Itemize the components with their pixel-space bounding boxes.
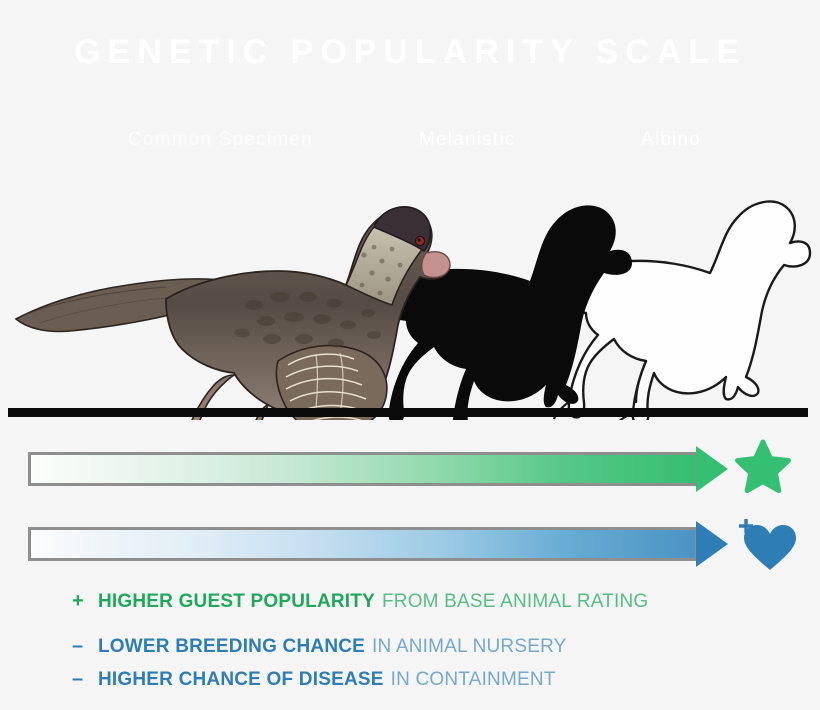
specimen-common <box>16 207 450 420</box>
legend-strong-disease: HIGHER CHANCE OF DISEASE <box>98 669 384 691</box>
heart-glyph <box>744 525 796 570</box>
ground-line <box>8 408 808 417</box>
legend-strong-popularity: HIGHER GUEST POPULARITY <box>98 591 375 613</box>
morph-label-albino: Albino <box>641 126 701 154</box>
legend-rest-disease: IN CONTAINMENT <box>391 669 556 691</box>
legend-item-popularity: + HIGHER GUEST POPULARITY FROM BASE ANIM… <box>72 590 648 613</box>
legend-strong-breeding: LOWER BREEDING CHANCE <box>98 636 365 658</box>
legend-sign-minus-breeding: – <box>72 635 98 658</box>
star-icon <box>734 438 818 500</box>
legend-sign-minus-disease: – <box>72 668 98 691</box>
heart-plus-icon <box>734 513 818 575</box>
morph-label-row: Common Specimen Melanistic Albino <box>0 126 820 158</box>
common-beak <box>422 252 450 278</box>
legend-rest-popularity: FROM BASE ANIMAL RATING <box>382 591 648 613</box>
specimen-stage <box>0 175 820 420</box>
legend-item-breeding: – LOWER BREEDING CHANCE IN ANIMAL NURSER… <box>72 635 567 658</box>
page-title: GENETIC POPULARITY SCALE <box>0 30 820 74</box>
popularity-meter-track <box>28 452 698 486</box>
genetic-popularity-infographic: GENETIC POPULARITY SCALE Common Specimen… <box>0 0 820 710</box>
popularity-meter-arrowhead <box>696 446 728 492</box>
legend-sign-plus: + <box>72 590 98 613</box>
common-pupil <box>417 238 420 241</box>
morph-label-common-specimen: Common Specimen <box>128 126 313 154</box>
legend-item-disease: – HIGHER CHANCE OF DISEASE IN CONTAINMEN… <box>72 668 556 691</box>
breeding-meter-arrowhead <box>696 521 728 567</box>
breeding-meter-track <box>28 527 698 561</box>
morph-label-melanistic: Melanistic <box>419 126 515 154</box>
legend-rest-breeding: IN ANIMAL NURSERY <box>372 636 567 658</box>
